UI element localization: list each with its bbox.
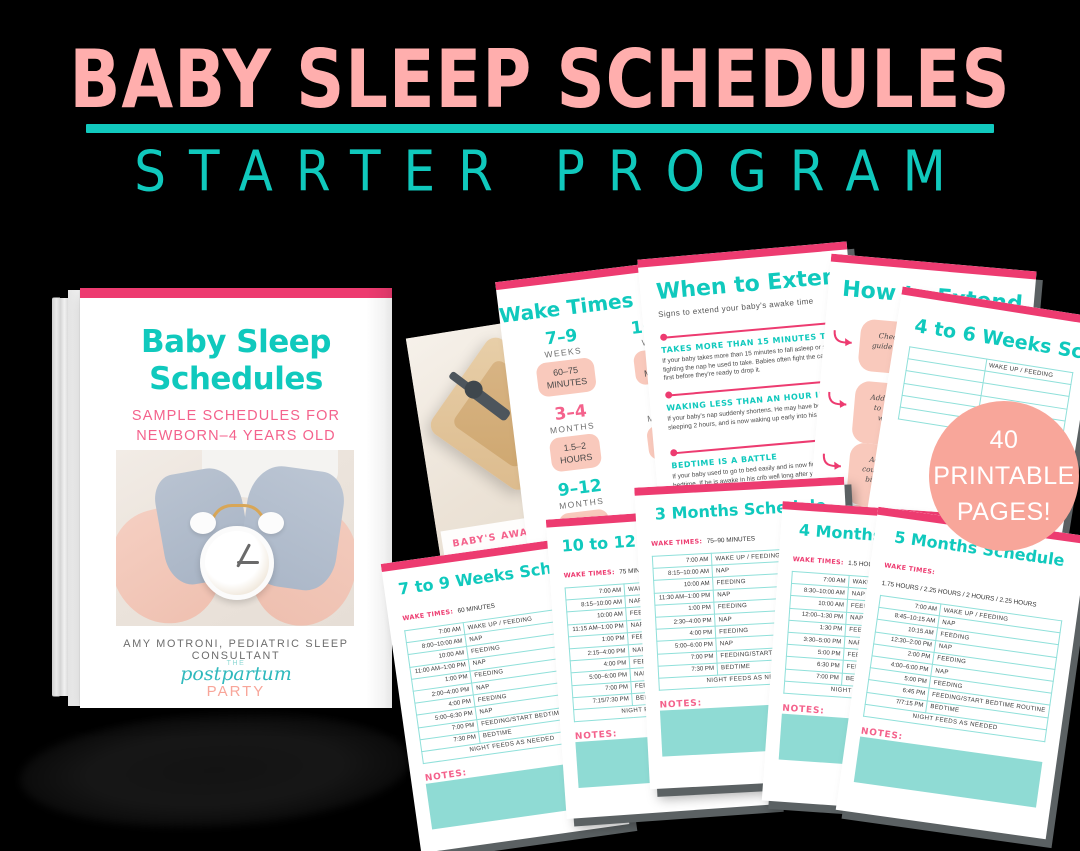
card-top-bar	[831, 254, 1037, 280]
wake-time-value-line: HOURS	[559, 452, 592, 466]
wake-time-value-line: 60–75	[552, 365, 578, 378]
wake-time-value-line: MINUTES	[546, 376, 587, 391]
cover-subtitle: SAMPLE SCHEDULES FOR NEWBORN–4 YEARS OLD	[80, 406, 392, 446]
when-to-extend-title: When to Extend	[655, 263, 854, 305]
cover-photo-baby-with-clock	[116, 450, 354, 626]
card-schedule-5months: 5 Months ScheduleWAKE TIMES: 1.75 HOURS …	[836, 507, 1080, 840]
clock-bell-right	[258, 512, 284, 534]
cover-title-line1: Baby Sleep	[141, 324, 331, 360]
title-divider	[86, 124, 994, 133]
bullet-dot-icon	[665, 391, 673, 399]
bullet-dot-icon	[660, 333, 668, 341]
when-to-extend-item: TAKES MORE THAN 15 MINUTES TO FALL ASLEE…	[660, 314, 839, 330]
alarm-clock-icon	[200, 526, 274, 600]
logo-party-text: PARTY	[80, 684, 392, 700]
wake-time-entry: 3–4MONTHS1.5–2HOURS	[521, 398, 626, 475]
cover-subtitle-line1: SAMPLE SCHEDULES FOR	[132, 408, 340, 424]
clock-bell-left	[190, 512, 216, 534]
wake-time-value-line: 1.5–2	[563, 440, 587, 453]
cover-title: Baby Sleep Schedules	[80, 324, 392, 398]
wake-times-label: WAKE TIMES:	[792, 555, 844, 567]
schedule-content: 5 Months ScheduleWAKE TIMES: 1.75 HOURS …	[854, 527, 1072, 808]
badge-count: 40	[990, 422, 1019, 458]
curved-arrow-icon	[820, 452, 848, 474]
cover-top-bar	[80, 288, 392, 298]
badge-line3: PAGES!	[957, 494, 1051, 530]
wake-times-label: WAKE TIMES:	[563, 568, 615, 580]
wake-times-label: WAKE TIMES:	[402, 607, 454, 622]
brand-logo: THE postpartum PARTY	[80, 660, 392, 700]
wake-time-entry: 7–9WEEKS60–75MINUTES	[512, 323, 617, 400]
curved-arrow-icon	[826, 390, 854, 412]
schedule-table: 7:00 AMWAKE UP / FEEDING8:45–10:15 AMNAP…	[863, 595, 1062, 742]
header: BABY SLEEP SCHEDULES STARTER PROGRAM	[0, 0, 1080, 210]
cover-subtitle-line2: NEWBORN–4 YEARS OLD	[136, 428, 336, 444]
book-drop-shadow	[17, 704, 412, 836]
cover-author: AMY MOTRONI, PEDIATRIC SLEEP CONSULTANT	[80, 638, 392, 662]
wake-times-value: 60 MINUTES	[457, 603, 495, 615]
badge-line2: PRINTABLE	[933, 458, 1075, 494]
bullet-dot-icon	[670, 449, 678, 457]
wake-times-label: WAKE TIMES:	[651, 537, 703, 548]
curved-arrow-icon	[831, 328, 859, 350]
ebook-mockup: Baby Sleep Schedules SAMPLE SCHEDULES FO…	[52, 288, 392, 708]
page-subtitle: STARTER PROGRAM	[0, 140, 1080, 203]
promo-graphic: BABY SLEEP SCHEDULES STARTER PROGRAM Bab…	[0, 0, 1080, 851]
cover-title-line2: Schedules	[149, 361, 323, 397]
card-top-bar	[637, 241, 847, 267]
logo-postpartum-text: postpartum	[80, 665, 392, 684]
wake-time-pill: 60–75MINUTES	[535, 357, 597, 398]
wake-times-label: WAKE TIMES:	[884, 561, 936, 576]
page-title: BABY SLEEP SCHEDULES	[38, 34, 1042, 124]
printable-pages-badge: 40 PRINTABLE PAGES!	[929, 401, 1079, 551]
wake-time-pill: 1.5–2HOURS	[548, 433, 602, 473]
book-cover: Baby Sleep Schedules SAMPLE SCHEDULES FO…	[80, 288, 392, 708]
notes-section: NOTES:	[854, 726, 1044, 807]
wake-times-value: 75–90 MINUTES	[707, 535, 756, 545]
